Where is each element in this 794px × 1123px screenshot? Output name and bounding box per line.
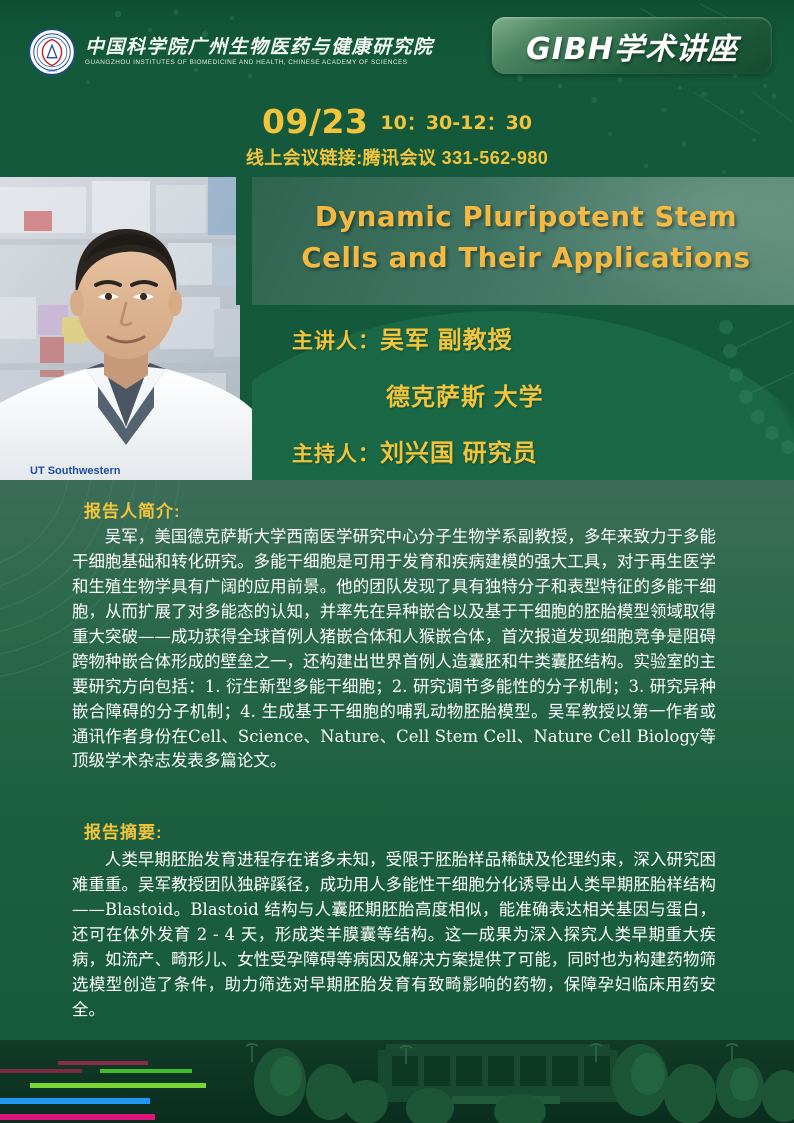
host-label: 主持人： xyxy=(292,443,380,466)
abstract-heading: 报告摘要: xyxy=(84,818,163,843)
gibh-badge-label: GIBH学术讲座 xyxy=(526,24,738,68)
lecture-time: 10：30-12：30 xyxy=(380,112,532,134)
svg-text:·····: ····· xyxy=(49,34,55,38)
lecture-title-line-2: Cells and Their Applications xyxy=(270,238,782,279)
lecture-poster: ····· GIBH 中国科学院广州生物医药与健康研究院 GUANGZHOU I… xyxy=(0,0,794,1123)
bio-text: 吴军，美国德克萨斯大学西南医学研究中心分子生物学系副教授，多年来致力于多能干细胞… xyxy=(72,525,716,774)
speaker-portrait: UT Southwestern xyxy=(0,177,252,480)
lecture-date: 09/23 xyxy=(262,102,368,141)
speaker-lines: 主讲人：吴军 副教授 德克萨斯 大学 主持人：刘兴国 研究员 xyxy=(252,321,794,466)
campus-photo-overlay xyxy=(0,1040,794,1123)
poster-footer xyxy=(0,1040,794,1123)
host-row: 主持人：刘兴国 研究员 xyxy=(292,442,794,466)
poster-content: 报告人简介: 吴军，美国德克萨斯大学西南医学研究中心分子生物学系副教授，多年来致… xyxy=(0,480,794,1040)
institute-name-en: GUANGZHOU INSTITUTES OF BIOMEDICINE AND … xyxy=(85,59,440,66)
bio-heading: 报告人简介: xyxy=(84,497,181,522)
speaker-portrait-image: UT Southwestern xyxy=(0,177,252,480)
speaker-affiliation: 德克萨斯 大学 xyxy=(386,386,794,410)
institute-name-cn: 中国科学院广州生物医药与健康研究院 xyxy=(85,38,434,58)
speaker-row: 主讲人：吴军 副教授 xyxy=(292,329,794,353)
lecture-title: Dynamic Pluripotent Stem Cells and Their… xyxy=(270,197,782,278)
coat-badge-text: UT Southwestern xyxy=(30,465,121,477)
svg-text:GIBH: GIBH xyxy=(47,69,57,73)
institute-logo: ····· GIBH 中国科学院广州生物医药与健康研究院 GUANGZHOU I… xyxy=(28,28,434,76)
speaker-label: 主讲人： xyxy=(292,330,380,353)
speaker-info-panel: 主讲人：吴军 副教授 德克萨斯 大学 主持人：刘兴国 研究员 xyxy=(252,305,794,480)
date-time-row: 09/2310：30-12：30 xyxy=(0,102,794,141)
cas-gibh-emblem-icon: ····· GIBH xyxy=(28,28,76,76)
abstract-text: 人类早期胚胎发育进程存在诸多未知，受限于胚胎样品稀缺及伦理约束，深入研究困难重重… xyxy=(72,848,716,1023)
meeting-link-text: 线上会议链接:腾讯会议 331-562-980 xyxy=(0,144,794,170)
schedule-band: 09/2310：30-12：30 线上会议链接:腾讯会议 331-562-980 xyxy=(0,92,794,177)
speaker-name: 吴军 副教授 xyxy=(380,327,513,354)
lecture-title-panel: Dynamic Pluripotent Stem Cells and Their… xyxy=(252,177,794,305)
poster-header: ····· GIBH 中国科学院广州生物医药与健康研究院 GUANGZHOU I… xyxy=(0,0,794,92)
host-name: 刘兴国 研究员 xyxy=(380,440,538,467)
gibh-lecture-badge: GIBH学术讲座 xyxy=(492,17,772,74)
lecture-title-line-1: Dynamic Pluripotent Stem xyxy=(270,197,782,238)
